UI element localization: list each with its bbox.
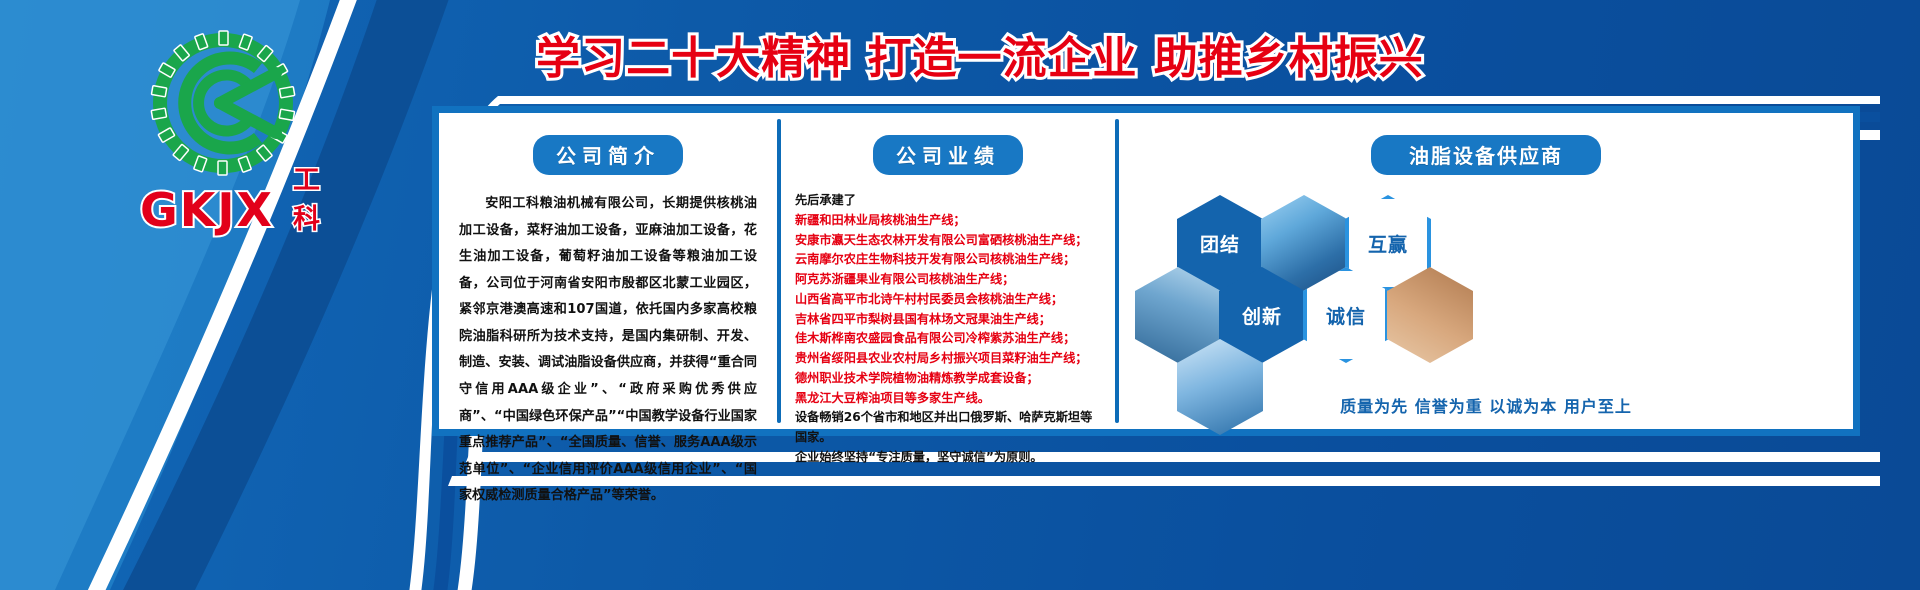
performance-tail-line: 设备畅销26个省市和地区并出口俄罗斯、哈萨克斯坦等国家。 bbox=[795, 408, 1101, 448]
panel-title-company-profile: 公司简介 bbox=[533, 135, 683, 175]
hexagon-cluster: 团结互赢创新诚信 bbox=[1129, 189, 1843, 389]
company-logo: 工科 GKJX bbox=[118, 28, 348, 218]
performance-list-item: 佳木斯桦南农盛园食品有限公司冷榨紫苏油生产线； bbox=[795, 329, 1101, 349]
performance-list-item: 吉林省四平市梨树县国有林场文冠果油生产线； bbox=[795, 310, 1101, 330]
panel-title-supplier: 油脂设备供应商 bbox=[1371, 135, 1601, 175]
logo-chinese-name: 工科 bbox=[293, 158, 348, 236]
gear-logo-icon bbox=[148, 28, 298, 178]
panel-company-profile: 公司简介 安阳工科粮油机械有限公司，长期提供核桃油加工设备，菜籽油加工设备，亚麻… bbox=[439, 113, 777, 429]
performance-list-item: 阿克苏浙疆果业有限公司核桃油生产线； bbox=[795, 270, 1101, 290]
hex-label: 互赢 bbox=[1368, 230, 1408, 257]
performance-tail-line: 企业始终坚持“专注质量，坚守诚信”为原则。 bbox=[795, 448, 1101, 468]
content-board: 公司简介 安阳工科粮油机械有限公司，长期提供核桃油加工设备，菜籽油加工设备，亚麻… bbox=[432, 106, 1860, 436]
performance-list-item: 黑龙江大豆榨油项目等多家生产线。 bbox=[795, 389, 1101, 409]
supplier-slogan: 质量为先 信誉为重 以诚为本 用户至上 bbox=[1119, 393, 1853, 417]
company-performance-body: 先后承建了 新疆和田林业局核桃油生产线；安康市瀛天生态农林开发有限公司富硒核桃油… bbox=[791, 191, 1105, 468]
hex-label: 团结 bbox=[1200, 230, 1240, 257]
performance-list-item: 安康市瀛天生态农林开发有限公司富硒核桃油生产线； bbox=[795, 231, 1101, 251]
company-profile-body: 安阳工科粮油机械有限公司，长期提供核桃油加工设备，菜籽油加工设备，亚麻油加工设备… bbox=[453, 191, 763, 510]
page-title: 学习二十大精神 打造一流企业 助推乡村振兴 bbox=[450, 22, 1510, 86]
logo-english-name: GKJX bbox=[140, 183, 274, 237]
panel-supplier: 油脂设备供应商 团结互赢创新诚信 质量为先 信誉为重 以诚为本 用户至上 bbox=[1119, 113, 1853, 429]
performance-tail: 设备畅销26个省市和地区并出口俄罗斯、哈萨克斯坦等国家。企业始终坚持“专注质量，… bbox=[795, 408, 1101, 467]
hex-label: 创新 bbox=[1242, 302, 1282, 329]
performance-list-item: 德州职业技术学院植物油精炼教学成套设备； bbox=[795, 369, 1101, 389]
performance-list: 新疆和田林业局核桃油生产线；安康市瀛天生态农林开发有限公司富硒核桃油生产线；云南… bbox=[795, 211, 1101, 409]
performance-list-item: 山西省高平市北诗午村村民委员会核桃油生产线； bbox=[795, 290, 1101, 310]
poster-banner: 工科 GKJX 学习二十大精神 打造一流企业 助推乡村振兴 公司简介 安阳工科粮… bbox=[0, 0, 1920, 590]
performance-lead: 先后承建了 bbox=[795, 191, 1101, 211]
performance-list-item: 云南摩尔农庄生物科技开发有限公司核桃油生产线； bbox=[795, 250, 1101, 270]
panel-title-company-performance: 公司业绩 bbox=[873, 135, 1023, 175]
performance-list-item: 新疆和田林业局核桃油生产线； bbox=[795, 211, 1101, 231]
performance-list-item: 贵州省绥阳县农业农村局乡村振兴项目菜籽油生产线； bbox=[795, 349, 1101, 369]
hex-label: 诚信 bbox=[1326, 302, 1366, 329]
panel-company-performance: 公司业绩 先后承建了 新疆和田林业局核桃油生产线；安康市瀛天生态农林开发有限公司… bbox=[781, 113, 1115, 429]
